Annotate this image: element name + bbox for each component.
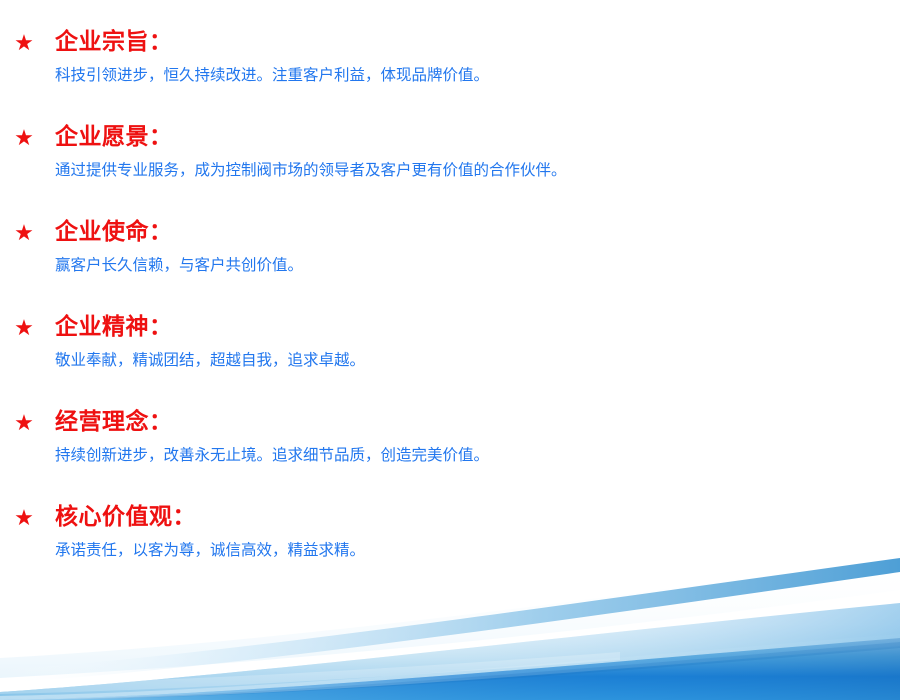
culture-block: ★ 企业宗旨： 科技引领进步，恒久持续改进。注重客户利益，体现品牌价值。: [0, 26, 900, 121]
section-body-text: 通过提供专业服务，成为控制阀市场的领导者及客户更有价值的合作伙伴。: [55, 159, 567, 183]
section-heading: 核心价值观：: [55, 501, 196, 531]
section-body-text: 科技引领进步，恒久持续改进。注重客户利益，体现品牌价值。: [55, 64, 489, 88]
section-heading: 企业使命：: [55, 216, 173, 246]
star-icon: ★: [13, 127, 35, 149]
section-body-text: 持续创新进步，改善永无止境。追求细节品质，创造完美价值。: [55, 444, 489, 468]
section-heading: 经营理念：: [55, 406, 173, 436]
culture-block: ★ 企业精神： 敬业奉献，精诚团结，超越自我，追求卓越。: [0, 311, 900, 406]
section-heading: 企业愿景：: [55, 121, 173, 151]
star-icon: ★: [13, 32, 35, 54]
culture-section-list: ★ 企业宗旨： 科技引领进步，恒久持续改进。注重客户利益，体现品牌价值。 ★ 企…: [0, 0, 900, 596]
section-body-text: 敬业奉献，精诚团结，超越自我，追求卓越。: [55, 349, 365, 373]
company-culture-page: ★ 企业宗旨： 科技引领进步，恒久持续改进。注重客户利益，体现品牌价值。 ★ 企…: [0, 0, 900, 700]
culture-block: ★ 核心价值观： 承诺责任，以客为尊，诚信高效，精益求精。: [0, 501, 900, 596]
star-icon: ★: [13, 412, 35, 434]
culture-block: ★ 企业愿景： 通过提供专业服务，成为控制阀市场的领导者及客户更有价值的合作伙伴…: [0, 121, 900, 216]
section-body-text: 承诺责任，以客为尊，诚信高效，精益求精。: [55, 539, 365, 563]
section-body-text: 赢客户长久信赖，与客户共创价值。: [55, 254, 303, 278]
culture-block: ★ 企业使命： 赢客户长久信赖，与客户共创价值。: [0, 216, 900, 311]
star-icon: ★: [13, 317, 35, 339]
star-icon: ★: [13, 222, 35, 244]
star-icon: ★: [13, 507, 35, 529]
section-heading: 企业宗旨：: [55, 26, 173, 56]
section-heading: 企业精神：: [55, 311, 173, 341]
culture-block: ★ 经营理念： 持续创新进步，改善永无止境。追求细节品质，创造完美价值。: [0, 406, 900, 501]
